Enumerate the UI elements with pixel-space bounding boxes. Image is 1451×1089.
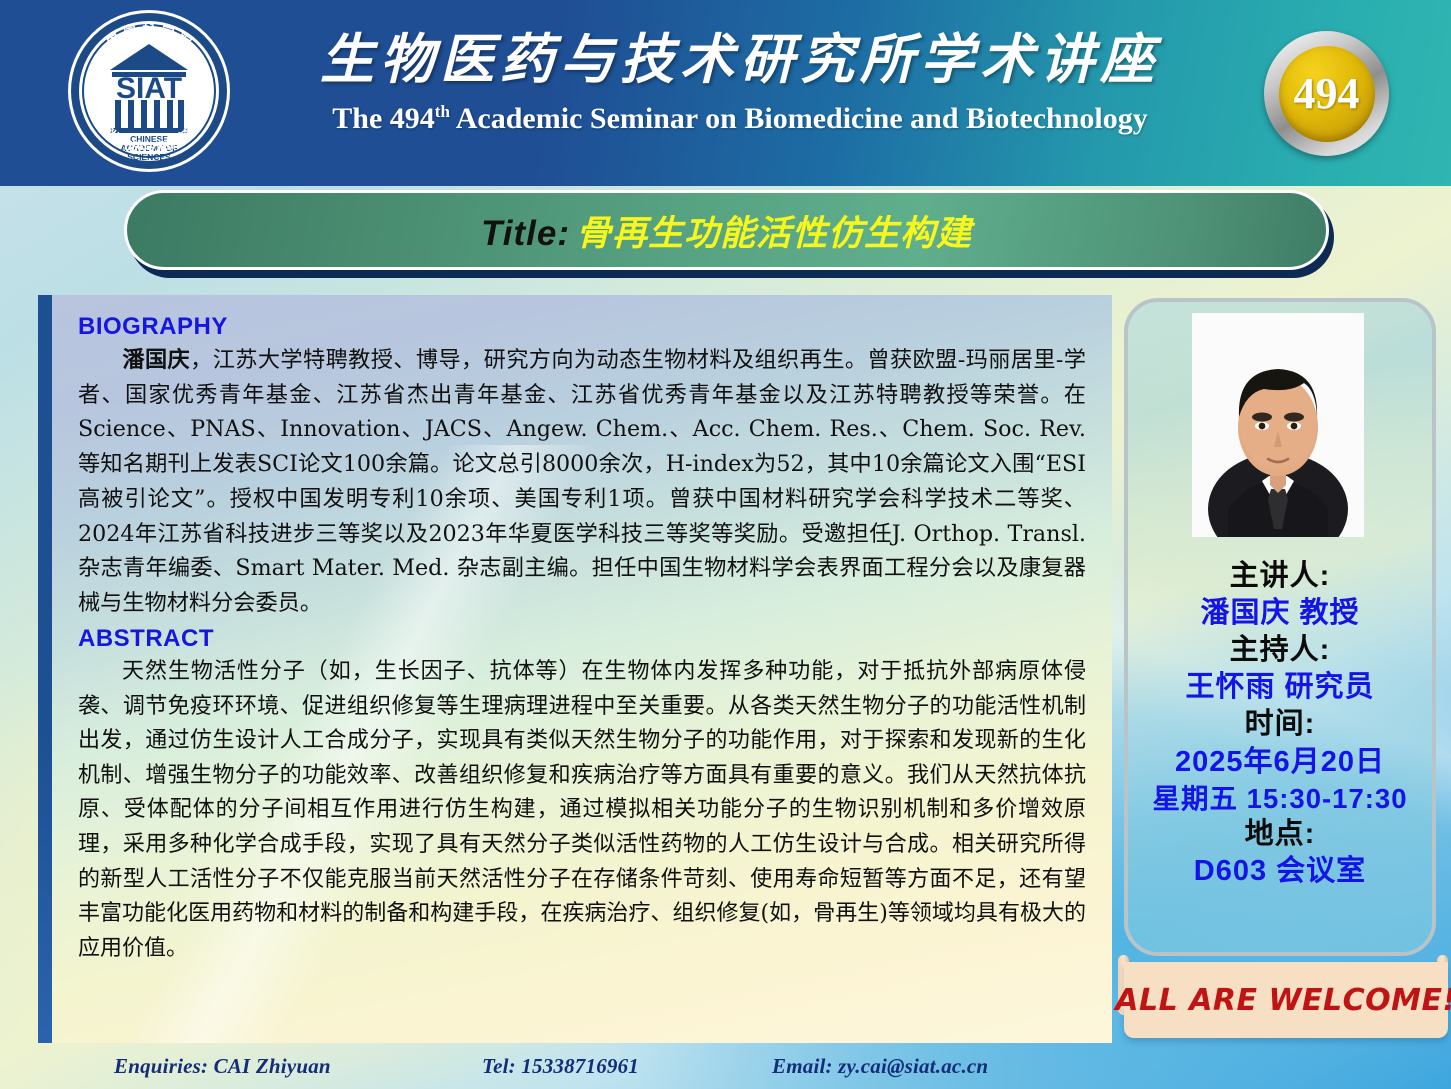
seminar-title-en-ordinal: th [435,102,450,121]
footer-tel: Tel: 15338716961 [482,1054,772,1079]
venue-value: D603 会议室 [1124,853,1436,890]
biography-speaker-name: 潘国庆 [122,347,190,373]
header-title-group: 生物医药与技术研究所学术讲座 The 494th Academic Semina… [260,26,1220,136]
title-bar: Title:骨再生功能活性仿生构建 [124,190,1329,270]
siat-logo-icon: SIAT CHINESE ACADEMY OF SCIENCES 中 国 科 学… [66,8,232,174]
host-label: 主持人: [1124,632,1436,669]
seminar-poster: SIAT CHINESE ACADEMY OF SCIENCES 中 国 科 学… [0,0,1451,1089]
time-label: 时间: [1124,706,1436,743]
seminar-title-en-rest: Academic Seminar on Biomedicine and Biot… [450,102,1148,135]
footer-email: Email: zy.cai@siat.ac.cn [772,1054,1102,1079]
biography-body: ，江苏大学特聘教授、博导，研究方向为动态生物材料及组织再生。曾获欧盟-玛丽居里-… [78,347,1086,616]
content-panel: BIOGRAPHY 潘国庆，江苏大学特聘教授、博导，研究方向为动态生物材料及组织… [52,295,1112,1043]
biography-text: 潘国庆，江苏大学特聘教授、博导，研究方向为动态生物材料及组织再生。曾获欧盟-玛丽… [78,343,1086,621]
abstract-text: 天然生物活性分子（如，生长因子、抗体等）在生物体内发挥多种功能，对于抵抗外部病原… [78,655,1086,967]
title-bar-value: 骨再生功能活性仿生构建 [576,214,972,253]
title-bar-label: Title: [481,214,570,253]
time-date: 2025年6月20日 [1124,744,1436,781]
time-detail: 星期五 15:30-17:30 [1124,781,1436,816]
speaker-info-block: 主讲人: 潘国庆 教授 主持人: 王怀雨 研究员 时间: 2025年6月20日 … [1124,558,1436,890]
seminar-number-badge-inner: 494 [1279,46,1375,142]
poster-footer: Enquiries: CAI Zhiyuan Tel: 15338716961 … [52,1046,1102,1086]
title-bar-text: Title:骨再生功能活性仿生构建 [481,205,972,256]
speaker-portrait-photo [1192,313,1364,537]
seminar-title-en: The 494th Academic Seminar on Biomedicin… [260,102,1220,136]
seminar-number-badge: 494 [1264,31,1389,156]
host-value: 王怀雨 研究员 [1124,669,1436,706]
svg-text:SIAT: SIAT [116,72,182,105]
biography-heading: BIOGRAPHY [78,313,1086,341]
welcome-banner-text: ALL ARE WELCOME! [1115,983,1451,1018]
speaker-label: 主讲人: [1124,558,1436,595]
abstract-heading: ABSTRACT [78,625,1086,653]
seminar-title-en-prefix: The 494 [332,102,435,135]
content-panel-edge [38,295,52,1043]
venue-label: 地点: [1124,816,1436,853]
speaker-value: 潘国庆 教授 [1124,595,1436,632]
welcome-banner: ALL ARE WELCOME! [1124,962,1448,1038]
seminar-number: 494 [1294,72,1360,116]
poster-header: SIAT CHINESE ACADEMY OF SCIENCES 中 国 科 学… [0,0,1451,186]
seminar-title-cn: 生物医药与技术研究所学术讲座 [260,26,1220,94]
footer-enquiries: Enquiries: CAI Zhiyuan [52,1054,482,1079]
